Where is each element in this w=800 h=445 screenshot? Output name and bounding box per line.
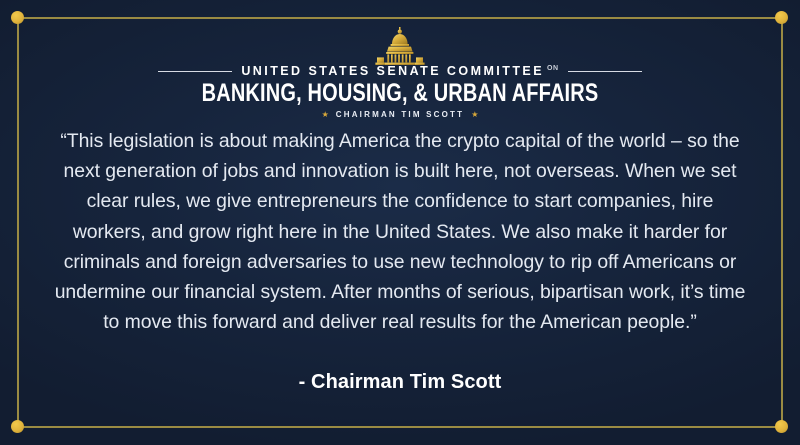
committee-main-title: BANKING, HOUSING, & URBAN AFFAIRS [80,81,720,107]
quote-block: “This legislation is about making Americ… [48,126,752,337]
chairman-tagline-label: CHAIRMAN TIM SCOTT [336,111,464,119]
quote-attribution: - Chairman Tim Scott [0,371,800,394]
committee-logo: UNITED STATES SENATE COMMITTEEON BANKING… [0,26,800,119]
logo-rule-right [568,71,642,72]
committee-name-row: UNITED STATES SENATE COMMITTEEON [0,65,800,78]
frame-line-bottom [18,426,782,428]
committee-name-label: UNITED STATES SENATE COMMITTEEON [241,65,558,78]
corner-dot-bottom-left-icon [11,420,24,433]
corner-dot-top-right-icon [775,11,788,24]
committee-on-label: ON [547,65,559,72]
quote-graphic-card: UNITED STATES SENATE COMMITTEEON BANKING… [0,0,800,445]
star-right-icon: ★ [471,111,478,119]
frame-line-top [18,17,782,19]
chairman-tagline-row: ★ CHAIRMAN TIM SCOTT ★ [0,111,800,119]
logo-rule-left [158,71,232,72]
quote-text: “This legislation is about making Americ… [48,126,752,337]
corner-dot-top-left-icon [11,11,24,24]
capitol-dome-icon [371,26,429,66]
star-left-icon: ★ [322,111,329,119]
corner-dot-bottom-right-icon [775,420,788,433]
committee-name-text: UNITED STATES SENATE COMMITTEE [241,64,544,78]
